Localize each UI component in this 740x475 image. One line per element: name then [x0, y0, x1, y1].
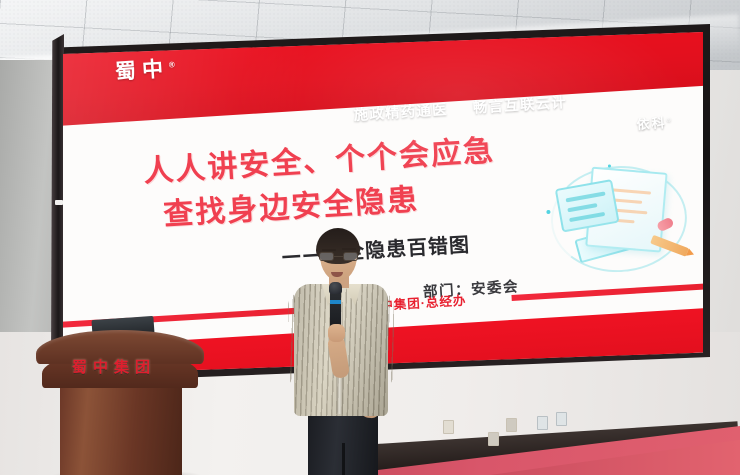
- brand-logo-shuzhong: 蜀中®: [114, 52, 176, 86]
- eyebrow-left: [322, 249, 336, 251]
- podium-sign-text: 蜀中集团: [36, 356, 192, 377]
- presentation-room-photo: 蜀中® 施政精药通医 畅言互联云计 依科®: [0, 0, 740, 475]
- speaker: [286, 228, 402, 475]
- brand-logo-yike: 依科®: [636, 112, 672, 133]
- brand-logo-text: 蜀中: [114, 58, 169, 84]
- wall-outlet: [556, 412, 567, 426]
- brand-logo-tr-text: 依科: [636, 115, 667, 132]
- wall-outlet: [506, 418, 517, 432]
- wall-outlet: [488, 432, 499, 446]
- registered-mark: ®: [169, 60, 175, 69]
- lens-left: [319, 252, 334, 261]
- microphone-indicator-ring: [330, 300, 341, 304]
- illustration-sparkle: [546, 210, 550, 214]
- trouser-seam: [342, 443, 345, 475]
- lens-right: [343, 252, 358, 261]
- screen-indicator-light: [55, 200, 63, 205]
- eyeglasses: [319, 252, 358, 261]
- books-documents-illustration: [542, 156, 698, 284]
- slogan-1: 施政精药通医: [353, 102, 448, 124]
- wall-outlet: [537, 416, 548, 430]
- wall-outlet: [443, 420, 454, 434]
- slogan-2: 畅言互联云计: [472, 95, 567, 117]
- speaker-hand-holding-mic: [328, 324, 345, 342]
- registered-mark-tr: ®: [666, 118, 671, 124]
- footer-bar-right: [511, 283, 703, 301]
- glasses-bridge: [334, 256, 343, 257]
- podium: 蜀中集团: [36, 330, 204, 475]
- podium-body: [60, 384, 182, 475]
- microphone-head: [329, 282, 342, 294]
- eyebrow-right: [342, 248, 356, 250]
